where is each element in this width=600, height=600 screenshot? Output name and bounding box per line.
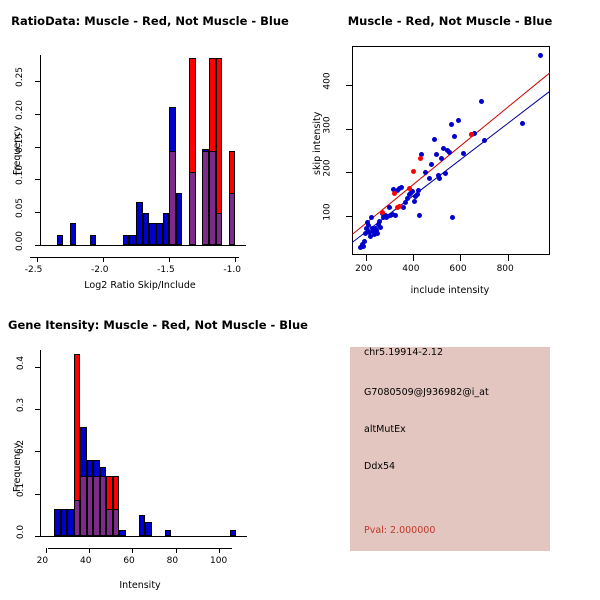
ratio-hist-bar-overlap <box>189 172 196 245</box>
ratio-hist-y-ticklabel: 0.20 <box>15 100 25 120</box>
ratio-hist-y-tick <box>35 212 40 213</box>
gene-hist-bar <box>119 530 126 536</box>
ratio-hist-bar-overlap <box>229 193 236 245</box>
gene-hist-x-ticklabel: 80 <box>167 556 178 566</box>
gene-hist-y-axis <box>40 350 41 537</box>
scatter-point <box>378 225 383 230</box>
scatter-point <box>375 231 380 236</box>
scatter-point <box>469 132 474 137</box>
gene-hist-bar <box>165 530 172 536</box>
ratio-hist-x-tick <box>103 257 104 262</box>
ratio-hist-baseline <box>40 245 246 246</box>
scatter-clip <box>352 46 550 255</box>
scatter-point <box>461 151 466 156</box>
ratio-hist-y-tick <box>35 81 40 82</box>
ratio-hist-y-ticklabel: 0.05 <box>15 198 25 218</box>
scatter-point <box>443 171 448 176</box>
gene-hist-bar <box>230 530 237 536</box>
ratio-hist-plot-area: 0.000.050.100.150.200.25-2.5-2.0-1.5-1.0 <box>0 0 300 300</box>
gene-hist-bar <box>145 522 152 536</box>
gene-info-panel: G7080509@J936982@i_at altMutEx Ddx54 chr… <box>350 347 550 551</box>
ratio-hist-x-ticklabel: -2.0 <box>91 265 109 275</box>
ratio-hist-x-ticklabel: -1.0 <box>223 265 241 275</box>
gene-hist-baseline <box>40 536 247 537</box>
ratio-hist-bar-overlap <box>209 151 216 245</box>
scatter-point <box>392 191 397 196</box>
gene-hist-x-ticklabel: 60 <box>123 556 134 566</box>
ratio-hist-bar <box>70 223 77 245</box>
scatter-x-tick <box>460 255 461 261</box>
gene-hist-x-tick <box>46 548 47 553</box>
ratio-hist-y-tick <box>35 179 40 180</box>
scatter-point <box>362 239 367 244</box>
ratio-hist-bar-overlap <box>216 213 223 245</box>
ratio-hist-y-axis <box>40 55 41 246</box>
scatter-point <box>479 99 484 104</box>
scatter-point <box>538 53 543 58</box>
gene-hist-y-ticklabel: 0.1 <box>16 483 26 497</box>
pval-text: Pval: 2.000000 <box>364 525 435 536</box>
ratio-hist-y-ticklabel: 0.10 <box>15 165 25 185</box>
scatter-y-tick <box>346 129 352 130</box>
scatter-point <box>447 150 452 155</box>
scatter-x-tick <box>508 255 509 261</box>
ratio-hist-y-ticklabel: 0.25 <box>15 67 25 87</box>
ratio-hist-bar-overlap <box>202 151 209 245</box>
ratio-hist-x-ticklabel: -2.5 <box>25 265 43 275</box>
scatter-point <box>452 134 457 139</box>
scatter-point <box>450 215 455 220</box>
scatter-point <box>369 215 374 220</box>
gene-hist-x-tick <box>132 548 133 553</box>
scatter-point <box>403 200 408 205</box>
scatter-point <box>482 138 487 143</box>
gene-hist-x-ticklabel: 20 <box>37 556 48 566</box>
ratio-hist-x-tick <box>169 257 170 262</box>
scatter-point <box>399 185 404 190</box>
scatter-point <box>437 176 442 181</box>
gene-hist-y-tick <box>35 409 40 410</box>
gene-hist-y-ticklabel: 0.3 <box>16 398 26 412</box>
scatter-y-ticklabel: 300 <box>323 116 333 133</box>
gene-hist-x-tick <box>176 548 177 553</box>
ratio-hist-y-tick <box>35 114 40 115</box>
scatter-x-tick <box>366 255 367 261</box>
gene-hist-plot-area: 0.00.10.20.30.420406080100 <box>0 310 320 600</box>
ratio-hist-x-tick <box>37 257 38 262</box>
ratio-hist-x-axis <box>30 257 239 258</box>
ratio-hist-x-tick <box>235 257 236 262</box>
gene-hist-y-ticklabel: 0.2 <box>16 440 26 454</box>
scatter-point <box>449 122 454 127</box>
scatter-point <box>439 156 444 161</box>
scatter-point <box>416 188 421 193</box>
scatter-point <box>411 169 416 174</box>
scatter-plot-area: 100200300400200400600800 <box>300 0 600 300</box>
intensity-scatter-plot: Muscle - Red, Not Muscle - Blue skip int… <box>300 0 600 300</box>
ratio-hist-bar <box>156 223 163 245</box>
scatter-y-tick <box>346 172 352 173</box>
scatter-point <box>456 118 461 123</box>
ratio-hist-bar <box>149 223 156 245</box>
ratio-hist-bar <box>143 213 150 245</box>
gene-hist-x-tick <box>89 548 90 553</box>
scatter-point <box>393 213 398 218</box>
gene-hist-y-ticklabel: 0.0 <box>16 525 26 539</box>
scatter-y-ticklabel: 400 <box>323 73 333 90</box>
scatter-x-tick <box>413 255 414 261</box>
gene-hist-x-axis <box>48 548 232 549</box>
scatter-y-tick <box>346 85 352 86</box>
scatter-point <box>412 199 417 204</box>
location-text: chr5.19914-2.12 <box>364 347 443 358</box>
ratio-data-histogram: RatioData: Muscle - Red, Not Muscle - Bl… <box>0 0 300 300</box>
scatter-point <box>397 204 402 209</box>
scatter-point <box>380 210 385 215</box>
event-type-text: altMutEx <box>364 424 406 435</box>
scatter-point <box>520 121 525 126</box>
scatter-x-ticklabel: 200 <box>355 264 372 274</box>
ratio-hist-bar <box>129 235 136 245</box>
gene-hist-x-ticklabel: 100 <box>210 556 227 566</box>
gene-hist-y-ticklabel: 0.4 <box>16 356 26 370</box>
gene-symbol-text: Ddx54 <box>364 461 395 472</box>
gene-intensity-histogram: Gene Itensity: Muscle - Red, Not Muscle … <box>0 310 320 600</box>
ratio-hist-y-ticklabel: 0.00 <box>15 231 25 251</box>
gene-hist-y-tick <box>35 451 40 452</box>
scatter-point <box>417 213 422 218</box>
gene-hist-y-tick <box>35 494 40 495</box>
gene-hist-x-tick <box>219 548 220 553</box>
ratio-hist-bar <box>123 235 130 245</box>
scatter-x-ticklabel: 400 <box>402 264 419 274</box>
scatter-x-ticklabel: 800 <box>497 264 514 274</box>
scatter-point <box>432 137 437 142</box>
gene-hist-x-ticklabel: 40 <box>80 556 91 566</box>
scatter-y-tick <box>346 216 352 217</box>
scatter-y-ticklabel: 100 <box>323 203 333 220</box>
ratio-hist-bar <box>90 235 97 245</box>
probe-id-text: G7080509@J936982@i_at <box>364 387 489 398</box>
ratio-hist-bar <box>57 235 64 245</box>
scatter-point <box>361 244 366 249</box>
ratio-hist-y-ticklabel: 0.15 <box>15 133 25 153</box>
ratio-hist-y-tick <box>35 147 40 148</box>
gene-hist-y-tick <box>35 367 40 368</box>
scatter-point <box>387 205 392 210</box>
scatter-x-ticklabel: 600 <box>449 264 466 274</box>
ratio-hist-bar <box>136 202 143 245</box>
ratio-hist-bar <box>176 193 183 245</box>
ratio-hist-bar-overlap <box>169 151 176 245</box>
scatter-point <box>423 170 428 175</box>
ratio-hist-bar <box>163 213 170 245</box>
scatter-point <box>418 156 423 161</box>
ratio-hist-x-ticklabel: -1.5 <box>157 265 175 275</box>
scatter-y-ticklabel: 200 <box>323 160 333 177</box>
